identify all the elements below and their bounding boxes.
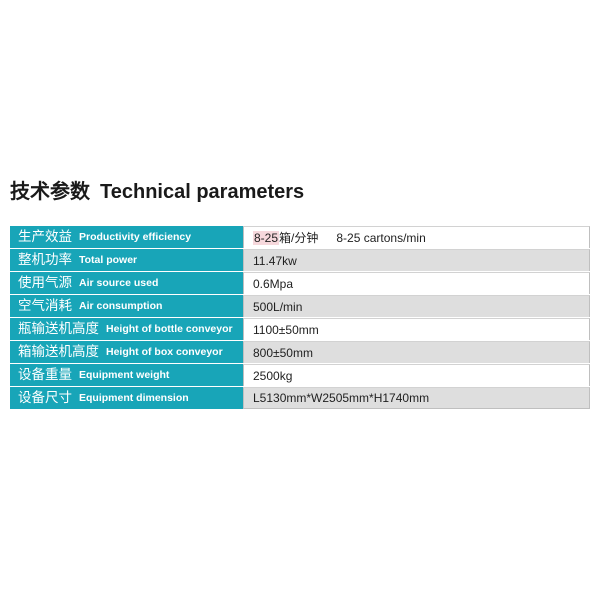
row-label-productivity-efficiency: 生产效益 Productivity efficiency bbox=[10, 226, 243, 248]
label-chinese: 瓶输送机高度 bbox=[18, 318, 99, 340]
label-chinese: 整机功率 bbox=[18, 249, 72, 271]
row-label-height-of-bottle-conveyor: 瓶输送机高度 Height of bottle conveyor bbox=[10, 318, 243, 340]
label-english: Productivity efficiency bbox=[79, 226, 191, 248]
row-label-equipment-dimension: 设备尺寸 Equipment dimension bbox=[10, 387, 243, 409]
label-english: Air source used bbox=[79, 272, 158, 294]
row-value-productivity-efficiency: 8-25箱/分钟8-25 cartons/min bbox=[243, 226, 590, 248]
table-row: 空气消耗 Air consumption 500L/min bbox=[10, 295, 590, 317]
table-row: 整机功率 Total power 11.47kw bbox=[10, 249, 590, 271]
page-root: 技术参数Technical parameters 生产效益 Productivi… bbox=[0, 0, 600, 600]
row-value-equipment-dimension: L5130mm*W2505mm*H1740mm bbox=[243, 387, 590, 409]
table-row: 瓶输送机高度 Height of bottle conveyor 1100±50… bbox=[10, 318, 590, 340]
row-label-total-power: 整机功率 Total power bbox=[10, 249, 243, 271]
row-value-air-consumption: 500L/min bbox=[243, 295, 590, 317]
table-row: 箱输送机高度 Height of box conveyor 800±50mm bbox=[10, 341, 590, 363]
label-english: Equipment weight bbox=[79, 364, 169, 386]
label-english: Equipment dimension bbox=[79, 387, 189, 409]
table-row: 设备尺寸 Equipment dimension L5130mm*W2505mm… bbox=[10, 387, 590, 409]
table-row: 生产效益 Productivity efficiency 8-25箱/分钟8-2… bbox=[10, 226, 590, 248]
label-chinese: 空气消耗 bbox=[18, 295, 72, 317]
row-value-total-power: 11.47kw bbox=[243, 249, 590, 271]
page-title-chinese: 技术参数 bbox=[10, 179, 90, 203]
label-chinese: 设备尺寸 bbox=[18, 387, 72, 409]
label-chinese: 生产效益 bbox=[18, 226, 72, 248]
label-english: Air consumption bbox=[79, 295, 162, 317]
label-chinese: 箱输送机高度 bbox=[18, 341, 99, 363]
table-row: 设备重量 Equipment weight 2500kg bbox=[10, 364, 590, 386]
row-value-air-source-used: 0.6Mpa bbox=[243, 272, 590, 294]
value-english: 8-25 cartons/min bbox=[336, 231, 425, 245]
page-title: 技术参数Technical parameters bbox=[10, 178, 304, 205]
highlighted-value: 8-25 bbox=[253, 231, 279, 245]
row-value-height-of-bottle-conveyor: 1100±50mm bbox=[243, 318, 590, 340]
label-chinese: 使用气源 bbox=[18, 272, 72, 294]
page-title-english: Technical parameters bbox=[100, 181, 304, 203]
label-english: Height of box conveyor bbox=[106, 341, 223, 363]
label-english: Height of bottle conveyor bbox=[106, 318, 233, 340]
row-label-equipment-weight: 设备重量 Equipment weight bbox=[10, 364, 243, 386]
label-english: Total power bbox=[79, 249, 137, 271]
row-label-height-of-box-conveyor: 箱输送机高度 Height of box conveyor bbox=[10, 341, 243, 363]
row-value-equipment-weight: 2500kg bbox=[243, 364, 590, 386]
value-chinese-unit: 箱/分钟 bbox=[279, 229, 318, 246]
row-value-height-of-box-conveyor: 800±50mm bbox=[243, 341, 590, 363]
table-row: 使用气源 Air source used 0.6Mpa bbox=[10, 272, 590, 294]
row-label-air-consumption: 空气消耗 Air consumption bbox=[10, 295, 243, 317]
label-chinese: 设备重量 bbox=[18, 364, 72, 386]
technical-parameters-table: 生产效益 Productivity efficiency 8-25箱/分钟8-2… bbox=[10, 226, 590, 409]
row-label-air-source-used: 使用气源 Air source used bbox=[10, 272, 243, 294]
